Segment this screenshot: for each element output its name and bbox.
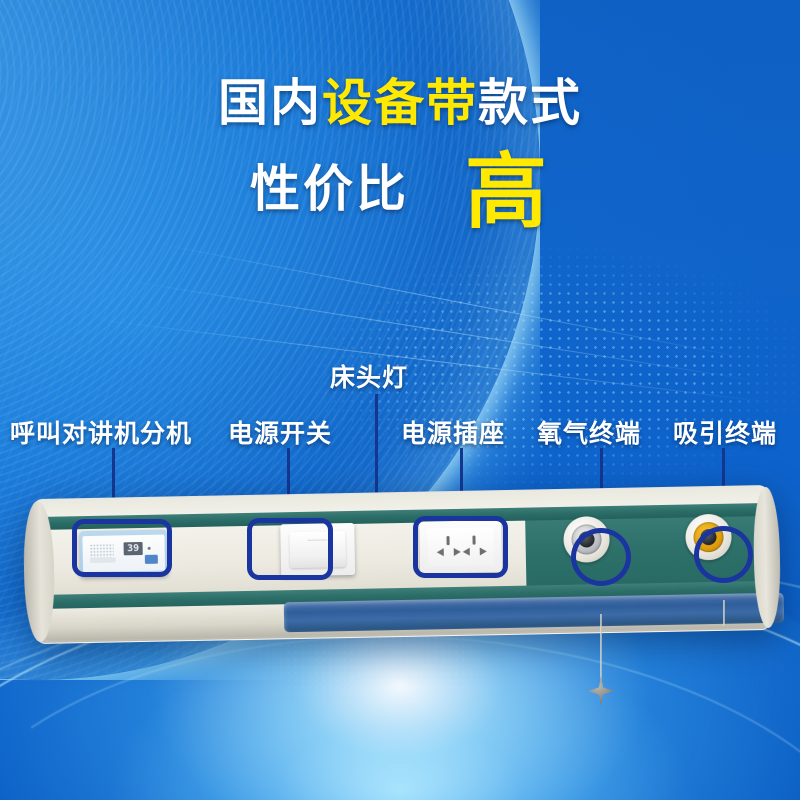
callout-label-power-socket: 电源插座 xyxy=(401,414,505,450)
highlight-box-power-switch xyxy=(247,518,333,580)
callout-label-oxygen-outlet: 氧气终端 xyxy=(537,414,641,450)
suction-port-hanging-cord xyxy=(723,600,725,626)
promo-image-canvas: 国内设备带款式 性价比高 呼叫对讲机分机 电源开关 床头灯 电源插座 氧气终端 … xyxy=(0,0,800,800)
headline-line-1: 国内设备带款式 xyxy=(0,78,800,128)
headline-text-equipment-belt: 设备带 xyxy=(322,74,478,132)
highlight-box-intercom xyxy=(72,519,172,577)
highlight-circle-suction xyxy=(694,526,753,583)
headline-line-2: 性价比高 xyxy=(0,152,800,234)
headline-text-value-ratio: 性价比 xyxy=(250,160,409,218)
highlight-box-power-socket xyxy=(413,516,508,578)
headline-text-domestic: 国内 xyxy=(218,74,322,132)
headline-text-high: 高 xyxy=(465,145,550,240)
headline-block: 国内设备带款式 性价比高 xyxy=(0,78,800,234)
headline-text-style: 款式 xyxy=(478,74,582,132)
callout-label-intercom: 呼叫对讲机分机 xyxy=(10,414,192,450)
callout-label-suction-outlet: 吸引终端 xyxy=(673,414,777,450)
callout-label-bedside-lamp: 床头灯 xyxy=(330,358,408,394)
callout-label-power-switch: 电源开关 xyxy=(228,414,332,450)
highlight-circle-oxygen xyxy=(571,528,631,586)
oxygen-port-hanging-cord xyxy=(600,614,602,686)
